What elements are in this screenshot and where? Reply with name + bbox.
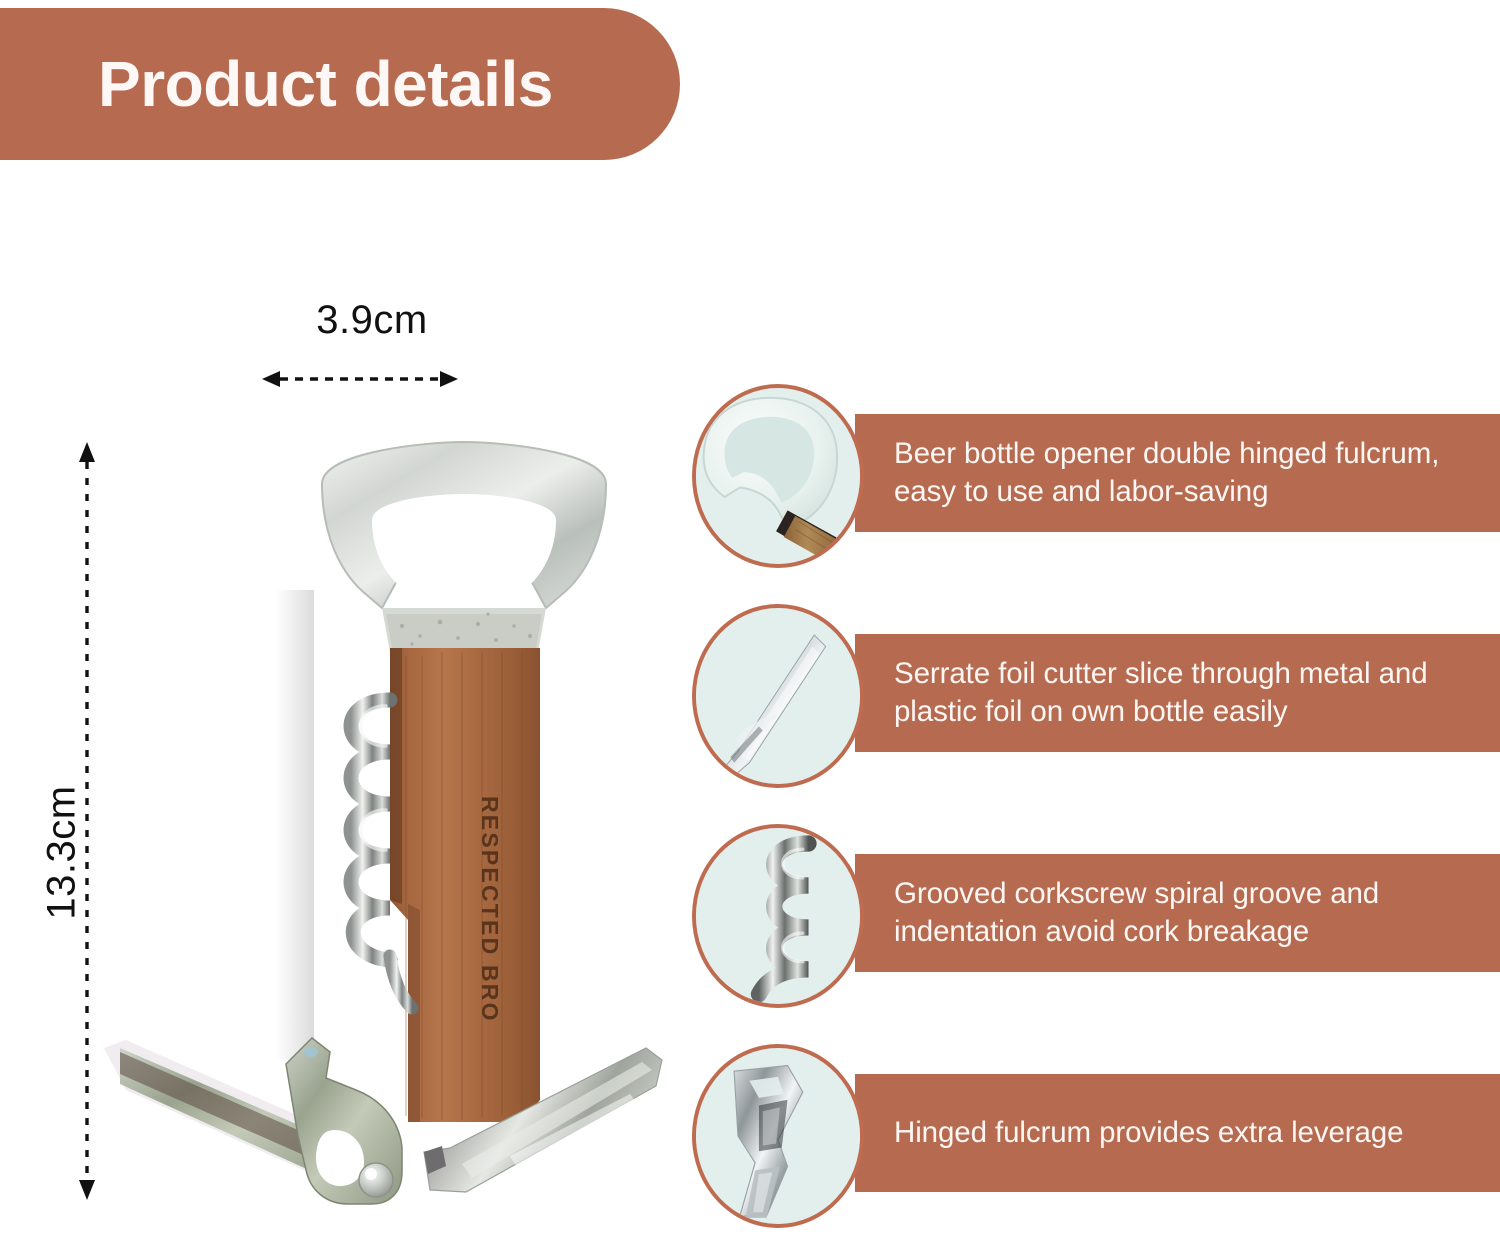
width-dimension-arrow-icon <box>262 370 458 388</box>
wooden-handle: RESPECTED BRO <box>390 648 540 1122</box>
bottle-opener-head-icon <box>692 384 864 568</box>
foil-cutter-blade-icon <box>692 604 864 788</box>
hinged-fulcrum-icon <box>692 1044 864 1228</box>
feature-callout: Hinged fulcrum provides extra leverage <box>680 1038 1500 1228</box>
product-photo-panel: 3.9cm 13.3cm <box>0 170 680 1239</box>
feature-text: Beer bottle opener double hinged fulcrum… <box>855 435 1500 511</box>
width-dimension-label: 3.9cm <box>262 298 482 343</box>
feature-callout: Beer bottle opener double hinged fulcrum… <box>680 378 1500 568</box>
feature-callout-list: Beer bottle opener double hinged fulcrum… <box>680 378 1500 1238</box>
page-title: Product details <box>98 52 553 116</box>
feature-text-bar: Hinged fulcrum provides extra leverage <box>855 1074 1500 1192</box>
header-banner: Product details <box>0 8 680 160</box>
hinged-fulcrum-arm <box>104 1038 402 1204</box>
feature-text: Grooved corkscrew spiral groove and inde… <box>855 875 1500 951</box>
corkscrew-highlight <box>361 706 387 850</box>
feature-text-bar: Serrate foil cutter slice through metal … <box>855 634 1500 752</box>
feature-text-bar: Grooved corkscrew spiral groove and inde… <box>855 854 1500 972</box>
product-image-corkscrew-bottle-opener: RESPECTED BRO <box>90 400 670 1220</box>
feature-callout: Serrate foil cutter slice through metal … <box>680 598 1500 788</box>
handle-engraving-text: RESPECTED BRO <box>477 796 503 1023</box>
feature-text-bar: Beer bottle opener double hinged fulcrum… <box>855 414 1500 532</box>
bottle-opener-head <box>322 442 606 652</box>
feature-text: Hinged fulcrum provides extra leverage <box>855 1114 1415 1152</box>
corkscrew-spiral-icon <box>692 824 864 1008</box>
feature-text: Serrate foil cutter slice through metal … <box>855 655 1500 731</box>
feature-callout: Grooved corkscrew spiral groove and inde… <box>680 818 1500 1008</box>
corkscrew-spiral <box>351 700 390 960</box>
product-details-infographic: Product details 3.9cm 13.3cm <box>0 0 1500 1239</box>
